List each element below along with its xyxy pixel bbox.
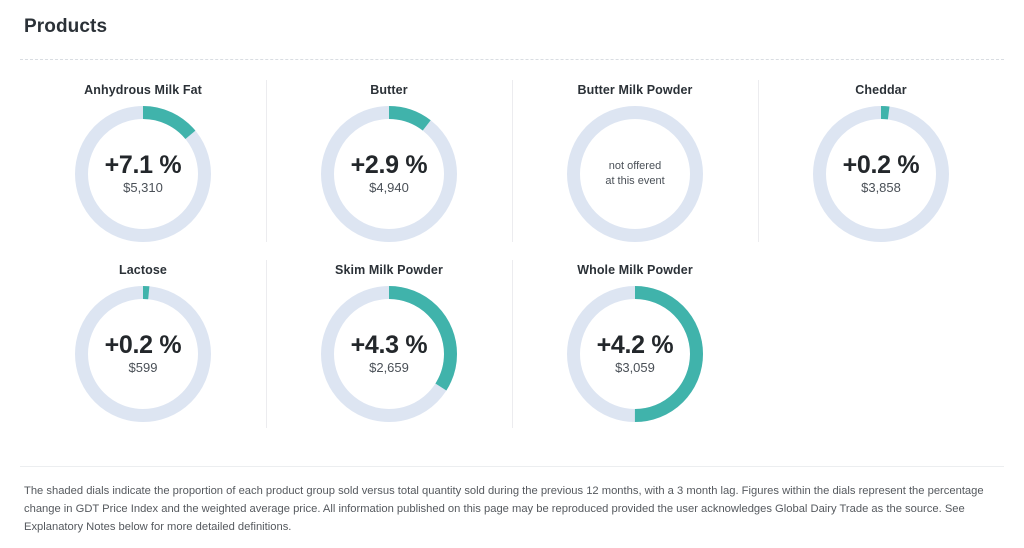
product-name-label: Butter (370, 83, 407, 97)
products-dials-panel: Products Anhydrous Milk Fat+7.1 %$5,310B… (0, 0, 1024, 548)
donut-dial: +0.2 %$3,858 (813, 106, 949, 242)
product-cell[interactable]: Anhydrous Milk Fat+7.1 %$5,310 (20, 72, 266, 252)
product-name-label: Whole Milk Powder (577, 263, 693, 277)
product-name-label: Skim Milk Powder (335, 263, 443, 277)
dial-track (328, 113, 451, 236)
dial-track (82, 293, 205, 416)
donut-dial: +0.2 %$599 (75, 286, 211, 422)
donut-dial: +2.9 %$4,940 (321, 106, 457, 242)
dial-track (574, 113, 697, 236)
product-name-label: Anhydrous Milk Fat (84, 83, 202, 97)
donut-dial: +4.3 %$2,659 (321, 286, 457, 422)
product-cell[interactable]: Butter Milk Powdernot offeredat this eve… (512, 72, 758, 252)
product-name-label: Lactose (119, 263, 167, 277)
donut-dial: +7.1 %$5,310 (75, 106, 211, 242)
footer-divider (20, 466, 1004, 467)
donut-dial: not offeredat this event (567, 106, 703, 242)
footnote-text: The shaded dials indicate the proportion… (24, 482, 1000, 536)
product-cell[interactable]: Whole Milk Powder+4.2 %$3,059 (512, 252, 758, 438)
product-cell[interactable]: Butter+2.9 %$4,940 (266, 72, 512, 252)
product-name-label: Butter Milk Powder (577, 83, 692, 97)
dial-track (820, 113, 943, 236)
products-grid: Anhydrous Milk Fat+7.1 %$5,310Butter+2.9… (20, 72, 1004, 438)
product-cell[interactable]: Skim Milk Powder+4.3 %$2,659 (266, 252, 512, 438)
donut-dial: +4.2 %$3,059 (567, 286, 703, 422)
product-name-label: Cheddar (855, 83, 906, 97)
product-cell[interactable]: Cheddar+0.2 %$3,858 (758, 72, 1004, 252)
page-title: Products (24, 16, 107, 38)
product-cell[interactable]: Lactose+0.2 %$599 (20, 252, 266, 438)
header-divider (20, 59, 1004, 60)
